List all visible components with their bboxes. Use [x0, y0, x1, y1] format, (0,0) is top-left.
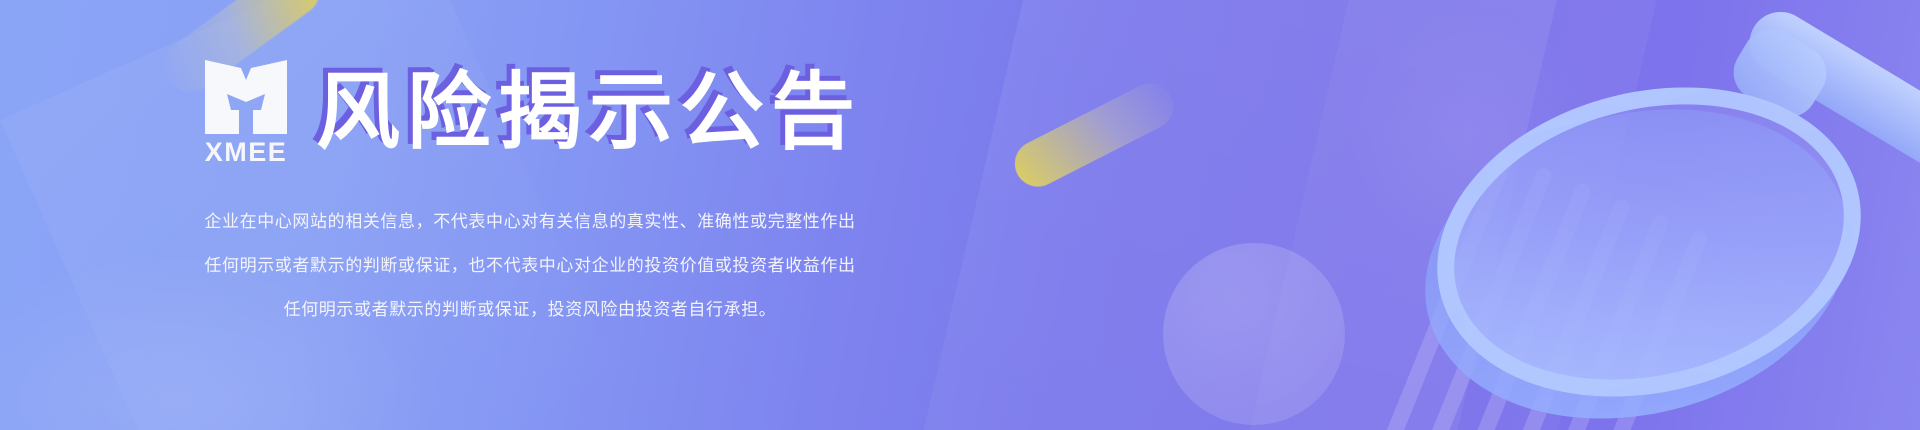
- disclaimer-text: 企业在中心网站的相关信息，不代表中心对有关信息的真实性、准确性或完整性作出 任何…: [0, 200, 1060, 332]
- disclaimer-line-1: 企业在中心网站的相关信息，不代表中心对有关信息的真实性、准确性或完整性作出: [0, 200, 1060, 244]
- soft-circle-shape: [1163, 243, 1345, 425]
- disclaimer-line-3: 任何明示或者默示的判断或保证，投资风险由投资者自行承担。: [0, 288, 1060, 332]
- logo-wordmark: XMEE: [205, 139, 288, 166]
- magnifier-handle-cap: [1723, 19, 1837, 128]
- disclaimer-line-2: 任何明示或者默示的判断或保证，也不代表中心对企业的投资价值或投资者收益作出: [0, 244, 1060, 288]
- title-row: XMEE 风险揭示公告: [0, 58, 1060, 166]
- faint-circle-shape: [1345, 8, 1595, 258]
- magnifier-illustration: [1418, 70, 1888, 410]
- diagonal-stripes: [1376, 150, 1920, 430]
- xmee-logo: XMEE: [198, 58, 294, 166]
- magnifier-lens-rim: [1404, 44, 1894, 430]
- magnifier-handle: [1738, 0, 1920, 182]
- page-title: 风险揭示公告: [316, 70, 862, 154]
- risk-disclosure-banner: XMEE 风险揭示公告 企业在中心网站的相关信息，不代表中心对有关信息的真实性、…: [0, 0, 1920, 430]
- diagonal-band-b: [1193, 0, 1688, 430]
- banner-content: XMEE 风险揭示公告 企业在中心网站的相关信息，不代表中心对有关信息的真实性、…: [0, 0, 1060, 430]
- shield-crown-icon: [201, 58, 291, 136]
- magnifier-rim-shadow: [1392, 66, 1882, 430]
